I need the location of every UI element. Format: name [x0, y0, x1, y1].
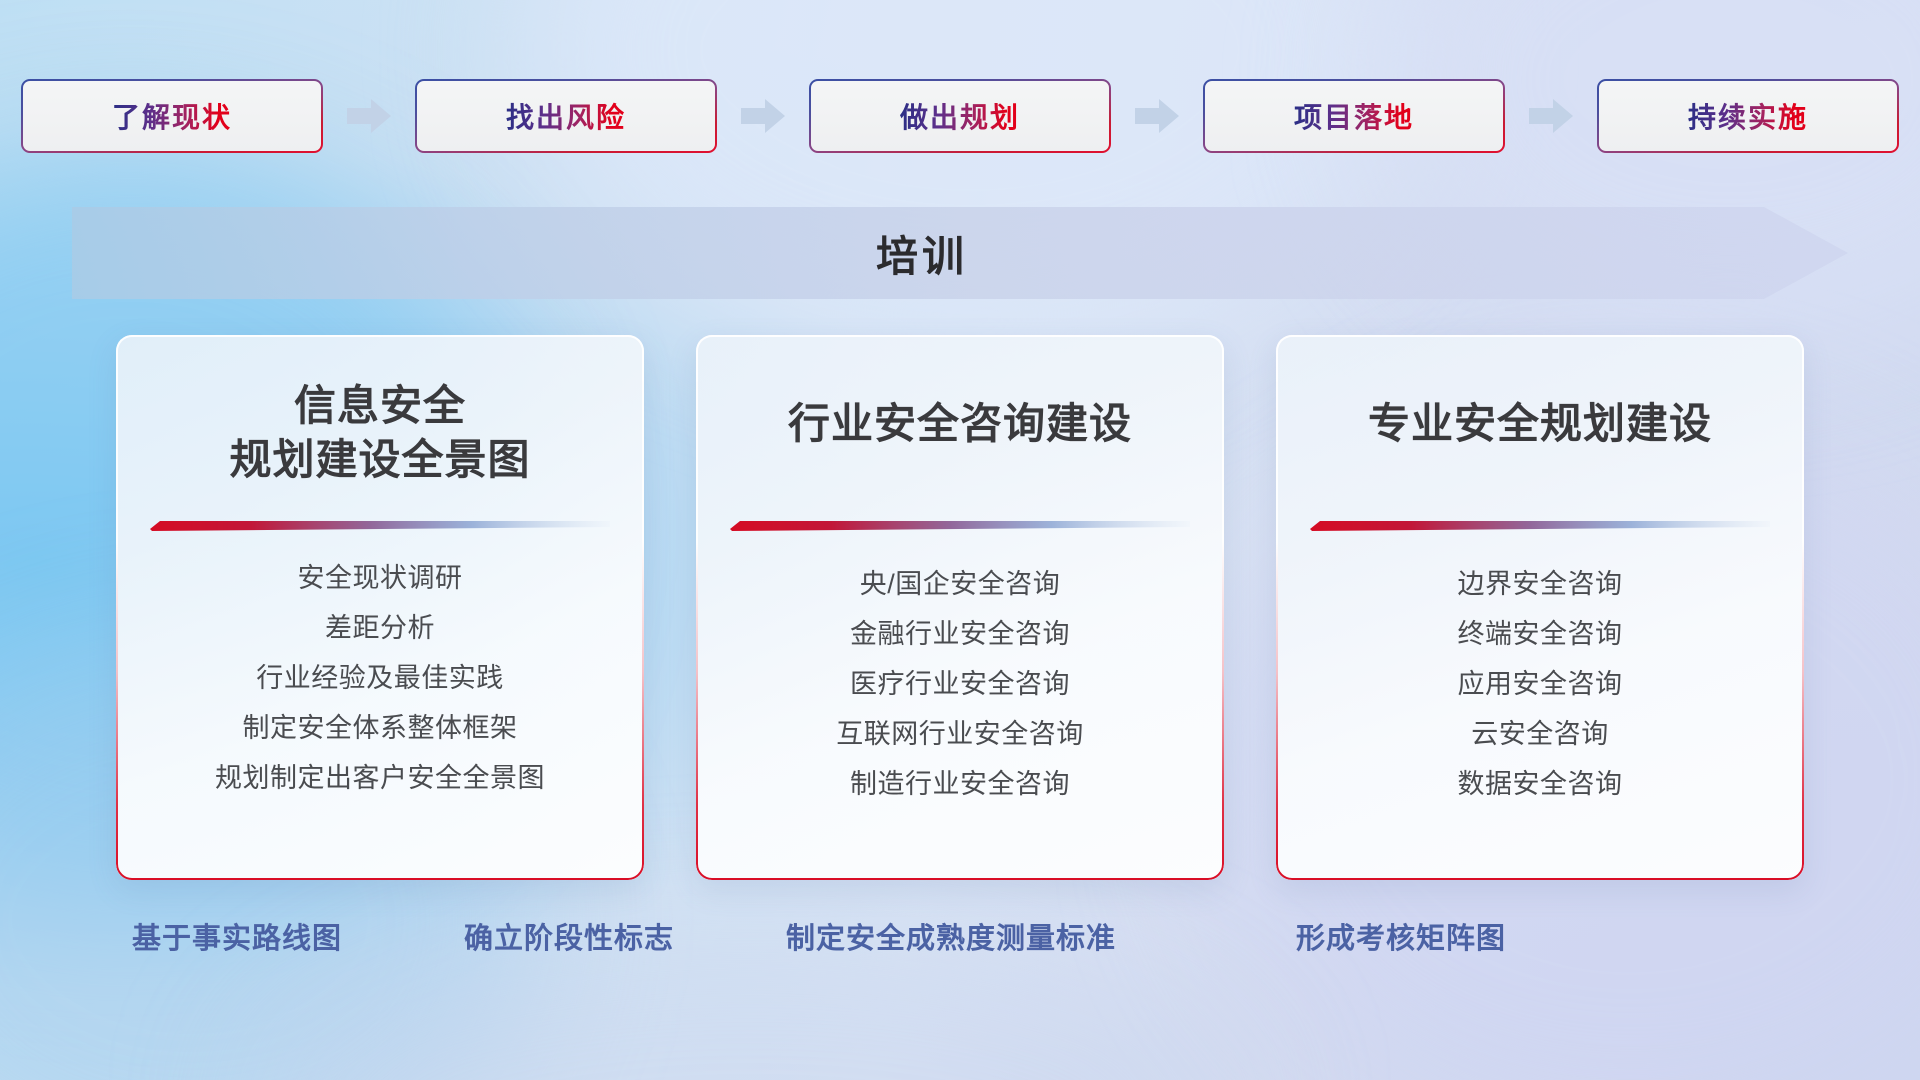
list-item: 云安全咨询 — [1276, 721, 1804, 748]
list-item: 医疗行业安全咨询 — [696, 671, 1224, 698]
step-box-1[interactable]: 了解现状 — [21, 79, 323, 153]
card-divider-accent — [150, 517, 610, 533]
card-title: 信息安全 规划建设全景图 — [116, 379, 644, 487]
step-label-5: 持续实施 — [1688, 96, 1808, 136]
card-title: 行业安全咨询建设 — [696, 397, 1224, 451]
list-item: 数据安全咨询 — [1276, 771, 1804, 798]
list-item: 边界安全咨询 — [1276, 571, 1804, 598]
list-item: 制定安全体系整体框架 — [116, 715, 644, 742]
right-arrow-icon — [1529, 96, 1573, 136]
right-arrow-icon — [741, 96, 785, 136]
card-info-security-blueprint[interactable]: 信息安全 规划建设全景图 安全现状调研 差距分析 行业经验及最佳实践 — [116, 335, 644, 880]
card-title: 专业安全规划建设 — [1276, 397, 1804, 451]
step-box-4-inner: 项目落地 — [1205, 81, 1503, 151]
list-item: 行业经验及最佳实践 — [116, 665, 644, 692]
footer-label-1: 基于事实路线图 — [132, 915, 342, 957]
list-item: 互联网行业安全咨询 — [696, 721, 1224, 748]
background-blob — [520, 0, 1420, 360]
card-divider-accent — [1310, 517, 1770, 533]
card-item-list: 边界安全咨询 终端安全咨询 应用安全咨询 云安全咨询 数据安全咨询 — [1276, 571, 1804, 821]
step-label-2: 找出风险 — [506, 96, 626, 136]
step-box-2[interactable]: 找出风险 — [415, 79, 717, 153]
footer-label-2: 确立阶段性标志 — [464, 915, 674, 957]
right-arrow-icon — [1135, 96, 1179, 136]
step-box-2-inner: 找出风险 — [417, 81, 715, 151]
list-item: 应用安全咨询 — [1276, 671, 1804, 698]
step-label-1: 了解现状 — [112, 96, 232, 136]
step-box-4[interactable]: 项目落地 — [1203, 79, 1505, 153]
slide-canvas: 了解现状 找出风险 做出规划 项目 — [0, 0, 1920, 1080]
step-box-1-inner: 了解现状 — [23, 81, 321, 151]
list-item: 制造行业安全咨询 — [696, 771, 1224, 798]
list-item: 金融行业安全咨询 — [696, 621, 1224, 648]
card-row: 信息安全 规划建设全景图 安全现状调研 差距分析 行业经验及最佳实践 — [0, 335, 1920, 880]
list-item: 安全现状调研 — [116, 565, 644, 592]
step-box-5-inner: 持续实施 — [1599, 81, 1897, 151]
banner-title: 培训 — [72, 207, 1772, 299]
step-box-3[interactable]: 做出规划 — [809, 79, 1111, 153]
footer-label-row: 基于事实路线图 确立阶段性标志 制定安全成熟度测量标准 形成考核矩阵图 — [0, 915, 1920, 965]
step-box-3-inner: 做出规划 — [811, 81, 1109, 151]
card-item-list: 央/国企安全咨询 金融行业安全咨询 医疗行业安全咨询 互联网行业安全咨询 制造行… — [696, 571, 1224, 821]
right-arrow-icon — [347, 96, 391, 136]
step-label-4: 项目落地 — [1294, 96, 1414, 136]
list-item: 央/国企安全咨询 — [696, 571, 1224, 598]
list-item: 规划制定出客户安全全景图 — [116, 765, 644, 792]
step-box-5[interactable]: 持续实施 — [1597, 79, 1899, 153]
process-step-row: 了解现状 找出风险 做出规划 项目 — [0, 78, 1920, 154]
step-label-3: 做出规划 — [900, 96, 1020, 136]
footer-label-4: 形成考核矩阵图 — [1296, 915, 1506, 957]
training-banner: 培训 — [72, 207, 1848, 299]
card-divider-accent — [730, 517, 1190, 533]
card-industry-security-consulting[interactable]: 行业安全咨询建设 央/国企安全咨询 金融行业安全咨询 医疗行业安全咨询 — [696, 335, 1224, 880]
card-item-list: 安全现状调研 差距分析 行业经验及最佳实践 制定安全体系整体框架 规划制定出客户… — [116, 565, 644, 815]
list-item: 终端安全咨询 — [1276, 621, 1804, 648]
card-professional-security-planning[interactable]: 专业安全规划建设 边界安全咨询 终端安全咨询 应用安全咨询 云安全 — [1276, 335, 1804, 880]
list-item: 差距分析 — [116, 615, 644, 642]
footer-label-3: 制定安全成熟度测量标准 — [786, 915, 1116, 957]
